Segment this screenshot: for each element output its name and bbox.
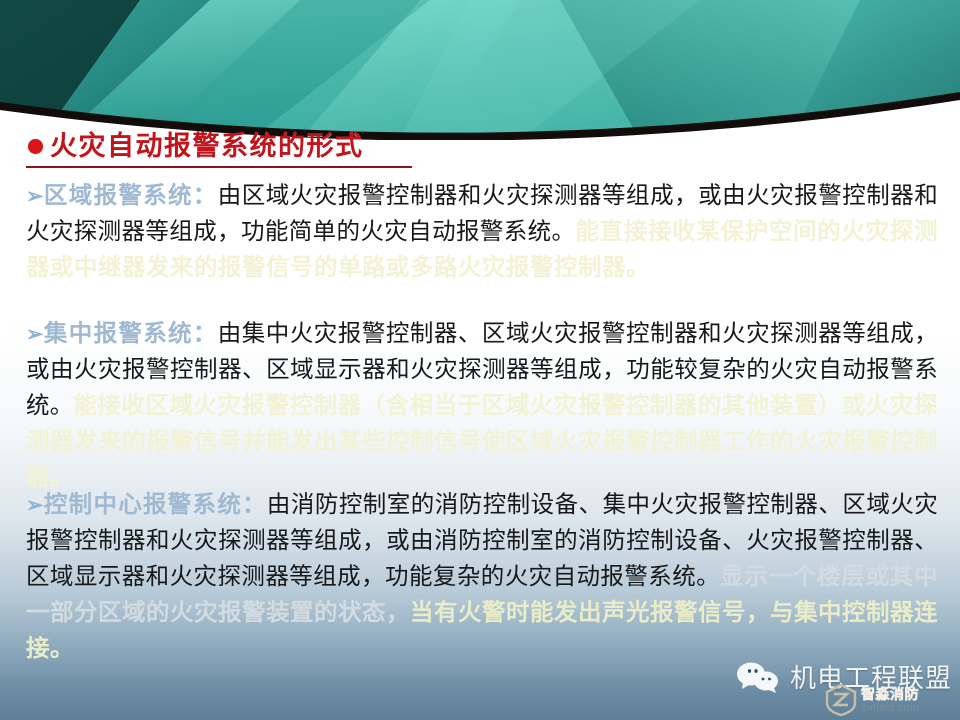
shield-logo-icon [824,683,858,717]
paragraph-lead-label: 区域报警系统： [44,183,218,209]
bullet-paragraph-control-center-alarm-system: ➢控制中心报警系统：由消防控制室的消防控制设备、集中火灾报警控制器、区域火灾报警… [26,487,938,667]
zmjaxf-brand-name: 智淼消防 [861,687,920,701]
slide-canvas: 火灾自动报警系统的形式 ➢区域报警系统：由区域火灾报警控制器和火灾探测器等组成，… [0,0,960,720]
paragraph-lead-label: 集中报警系统： [44,321,218,347]
bullet-paragraph-area-alarm-system: ➢区域报警系统：由区域火灾报警控制器和火灾探测器等组成，或由火灾报警控制器和火灾… [26,178,938,286]
bullet-dot-icon [28,139,43,154]
arrow-bullet-icon: ➢ [26,184,44,208]
page-title: 火灾自动报警系统的形式 [28,133,364,160]
arrow-bullet-icon: ➢ [26,493,44,517]
paragraph-lead-label: 控制中心报警系统： [44,492,267,518]
zmjaxf-url: zmjaxf.com [861,703,920,714]
wechat-icon [735,661,781,693]
paragraph-faded-note: 能接收区域火灾报警控制器（含相当于区域火灾报警控制器的其他装置）或火灾探测器发来… [26,393,938,491]
title-underline-divider [26,166,412,168]
bullet-paragraph-central-alarm-system: ➢集中报警系统：由集中火灾报警控制器、区域火灾报警控制器和火灾探测器等组成，或由… [26,316,938,496]
header-banner-graphic [0,0,960,140]
page-title-text: 火灾自动报警系统的形式 [50,133,364,160]
banner-abstract-shapes [0,0,960,140]
zmjaxf-text-block: 智淼消防 zmjaxf.com [861,687,920,714]
zmjaxf-logo-watermark: 智淼消防 zmjaxf.com [824,683,920,717]
arrow-bullet-icon: ➢ [26,322,44,346]
